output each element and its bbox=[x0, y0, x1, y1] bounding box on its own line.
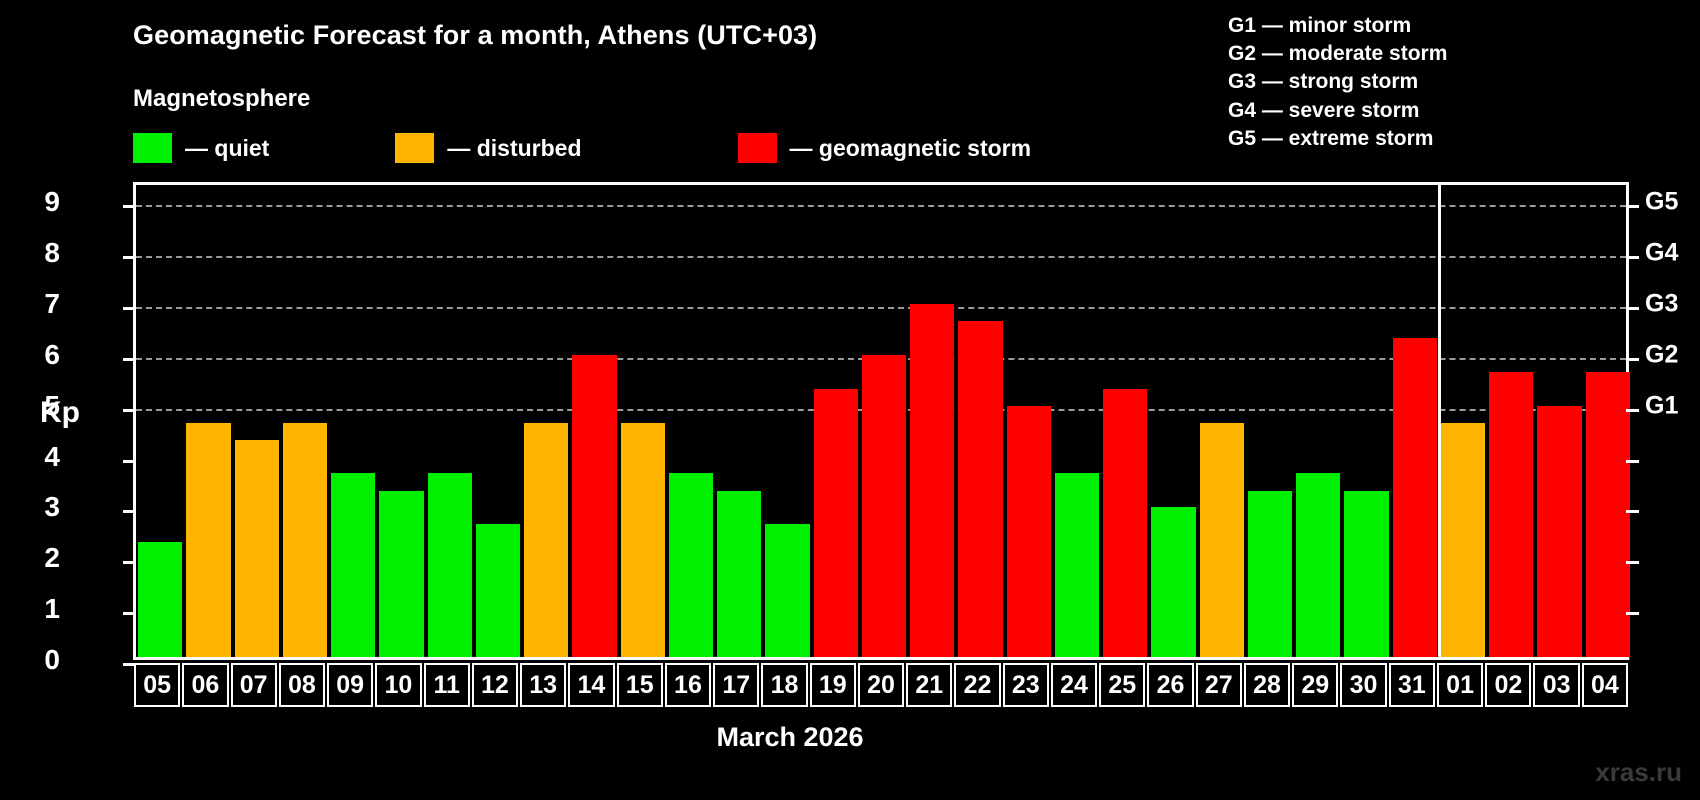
y-tick-label-4: 4 bbox=[20, 441, 60, 473]
bar-day-06[interactable] bbox=[186, 423, 230, 660]
y-tick-label-2: 2 bbox=[20, 542, 60, 574]
day-label-23: 23 bbox=[1003, 663, 1049, 707]
g-tick-g4 bbox=[1626, 256, 1639, 259]
y-tick-label-7: 7 bbox=[20, 288, 60, 320]
x-axis-title: March 2026 bbox=[0, 722, 1700, 753]
y-tick-3 bbox=[123, 510, 136, 513]
day-label-16: 16 bbox=[665, 663, 711, 707]
day-label-08: 08 bbox=[279, 663, 325, 707]
g-axis-label-g1: G1 bbox=[1645, 391, 1678, 420]
y-tick-2 bbox=[123, 561, 136, 564]
day-label-30: 30 bbox=[1340, 663, 1386, 707]
y-tick-8 bbox=[123, 256, 136, 259]
bar-day-11[interactable] bbox=[428, 473, 472, 660]
storm-scale-line-g1: G1 — minor storm bbox=[1228, 12, 1447, 40]
g-tick-g3 bbox=[1626, 307, 1639, 310]
y-tick-label-6: 6 bbox=[20, 339, 60, 371]
legend-item-quiet: — quiet bbox=[133, 133, 269, 163]
bar-day-16[interactable] bbox=[669, 473, 713, 660]
day-label-31: 31 bbox=[1389, 663, 1435, 707]
day-label-05: 05 bbox=[134, 663, 180, 707]
gridline-kp-7 bbox=[136, 307, 1626, 309]
day-label-27: 27 bbox=[1196, 663, 1242, 707]
day-label-29: 29 bbox=[1292, 663, 1338, 707]
day-label-01: 01 bbox=[1437, 663, 1483, 707]
g-axis-minor-tick-2 bbox=[1626, 561, 1639, 564]
day-label-12: 12 bbox=[472, 663, 518, 707]
day-label-09: 09 bbox=[327, 663, 373, 707]
g-axis-label-g2: G2 bbox=[1645, 340, 1678, 369]
g-axis-minor-tick-3 bbox=[1626, 510, 1639, 513]
x-axis-line bbox=[133, 657, 1629, 660]
g-axis-label-g3: G3 bbox=[1645, 290, 1678, 319]
storm-scale-legend: G1 — minor stormG2 — moderate stormG3 — … bbox=[1228, 12, 1447, 153]
magnetosphere-legend: — quiet— disturbed— geomagnetic storm bbox=[133, 133, 1031, 163]
bar-day-20[interactable] bbox=[862, 355, 906, 660]
g-axis-minor-tick-4 bbox=[1626, 460, 1639, 463]
g-axis-label-g5: G5 bbox=[1645, 188, 1678, 217]
month-divider-line bbox=[1438, 185, 1441, 660]
bar-day-31[interactable] bbox=[1393, 338, 1437, 660]
page-title: Geomagnetic Forecast for a month, Athens… bbox=[133, 20, 817, 51]
bar-day-21[interactable] bbox=[910, 304, 954, 660]
gridline-kp-9 bbox=[136, 205, 1626, 207]
bar-day-30[interactable] bbox=[1344, 491, 1388, 660]
bar-day-03[interactable] bbox=[1537, 406, 1581, 660]
day-label-21: 21 bbox=[906, 663, 952, 707]
storm-scale-line-g4: G4 — severe storm bbox=[1228, 97, 1447, 125]
legend-label-storm: — geomagnetic storm bbox=[790, 135, 1032, 162]
y-tick-7 bbox=[123, 307, 136, 310]
bar-day-09[interactable] bbox=[331, 473, 375, 660]
day-label-25: 25 bbox=[1099, 663, 1145, 707]
bar-day-13[interactable] bbox=[524, 423, 568, 660]
day-label-28: 28 bbox=[1244, 663, 1290, 707]
y-tick-label-1: 1 bbox=[20, 593, 60, 625]
bar-day-01[interactable] bbox=[1441, 423, 1485, 660]
watermark: xras.ru bbox=[1595, 757, 1682, 788]
bar-day-18[interactable] bbox=[765, 524, 809, 660]
day-label-02: 02 bbox=[1485, 663, 1531, 707]
bar-day-07[interactable] bbox=[235, 440, 279, 660]
legend-item-disturbed: — disturbed bbox=[395, 133, 581, 163]
bar-day-22[interactable] bbox=[958, 321, 1002, 660]
day-label-14: 14 bbox=[568, 663, 614, 707]
day-label-18: 18 bbox=[761, 663, 807, 707]
x-axis-title-text: March 2026 bbox=[716, 722, 863, 753]
day-label-24: 24 bbox=[1051, 663, 1097, 707]
y-tick-label-9: 9 bbox=[20, 186, 60, 218]
legend-swatch-quiet bbox=[133, 133, 172, 163]
bar-day-28[interactable] bbox=[1248, 491, 1292, 660]
gridline-kp-8 bbox=[136, 256, 1626, 258]
day-label-22: 22 bbox=[954, 663, 1000, 707]
day-label-26: 26 bbox=[1147, 663, 1193, 707]
bar-day-25[interactable] bbox=[1103, 389, 1147, 660]
legend-swatch-storm bbox=[738, 133, 777, 163]
y-tick-label-8: 8 bbox=[20, 237, 60, 269]
day-label-15: 15 bbox=[617, 663, 663, 707]
storm-scale-line-g5: G5 — extreme storm bbox=[1228, 125, 1447, 153]
y-tick-4 bbox=[123, 460, 136, 463]
bar-day-05[interactable] bbox=[138, 542, 182, 660]
bar-day-04[interactable] bbox=[1586, 372, 1630, 660]
bar-day-14[interactable] bbox=[572, 355, 616, 660]
bar-day-17[interactable] bbox=[717, 491, 761, 660]
bar-day-08[interactable] bbox=[283, 423, 327, 660]
day-label-19: 19 bbox=[810, 663, 856, 707]
storm-scale-line-g3: G3 — strong storm bbox=[1228, 68, 1447, 96]
g-axis-label-g4: G4 bbox=[1645, 239, 1678, 268]
g-tick-g1 bbox=[1626, 409, 1639, 412]
y-tick-label-5: 5 bbox=[20, 390, 60, 422]
bar-day-26[interactable] bbox=[1151, 507, 1195, 660]
day-label-20: 20 bbox=[858, 663, 904, 707]
bar-day-19[interactable] bbox=[814, 389, 858, 660]
chart-plot-area bbox=[133, 182, 1629, 660]
y-tick-6 bbox=[123, 358, 136, 361]
day-label-07: 07 bbox=[231, 663, 277, 707]
legend-label-quiet: — quiet bbox=[185, 135, 269, 162]
day-label-10: 10 bbox=[375, 663, 421, 707]
y-tick-1 bbox=[123, 612, 136, 615]
bar-day-02[interactable] bbox=[1489, 372, 1533, 660]
bar-day-29[interactable] bbox=[1296, 473, 1340, 660]
bar-day-10[interactable] bbox=[379, 491, 423, 660]
day-label-row: 0506070809101112131415161718192021222324… bbox=[133, 663, 1629, 707]
bar-day-23[interactable] bbox=[1007, 406, 1051, 660]
storm-scale-line-g2: G2 — moderate storm bbox=[1228, 40, 1447, 68]
day-label-04: 04 bbox=[1582, 663, 1628, 707]
g-axis-minor-tick-1 bbox=[1626, 612, 1639, 615]
bar-day-12[interactable] bbox=[476, 524, 520, 660]
bar-day-15[interactable] bbox=[621, 423, 665, 660]
day-label-06: 06 bbox=[182, 663, 228, 707]
day-label-03: 03 bbox=[1533, 663, 1579, 707]
y-tick-9 bbox=[123, 205, 136, 208]
day-label-17: 17 bbox=[713, 663, 759, 707]
magnetosphere-label: Magnetosphere bbox=[133, 85, 310, 113]
day-label-11: 11 bbox=[424, 663, 470, 707]
bar-day-27[interactable] bbox=[1200, 423, 1244, 660]
g-tick-g5 bbox=[1626, 205, 1639, 208]
day-label-13: 13 bbox=[520, 663, 566, 707]
legend-swatch-disturbed bbox=[395, 133, 434, 163]
y-tick-5 bbox=[123, 409, 136, 412]
y-tick-label-0: 0 bbox=[20, 644, 60, 676]
g-tick-g2 bbox=[1626, 358, 1639, 361]
legend-item-storm: — geomagnetic storm bbox=[738, 133, 1032, 163]
bar-day-24[interactable] bbox=[1055, 473, 1099, 660]
y-tick-label-3: 3 bbox=[20, 491, 60, 523]
legend-label-disturbed: — disturbed bbox=[447, 135, 581, 162]
chart-bars-container bbox=[136, 185, 1626, 660]
